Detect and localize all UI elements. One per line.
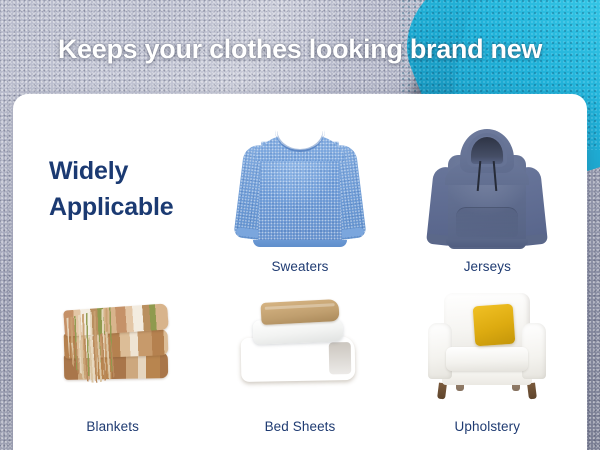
hoodie-icon bbox=[412, 119, 562, 251]
armchair-icon bbox=[412, 279, 562, 411]
content-card: Widely Applicable Sweaters bbox=[13, 94, 587, 450]
category-caption: Sweaters bbox=[271, 259, 328, 274]
category-item-sweaters[interactable]: Sweaters bbox=[206, 100, 393, 278]
folded-bedding-icon bbox=[225, 279, 375, 411]
product-feature-banner: Keeps your clothes looking brand new Wid… bbox=[0, 0, 600, 450]
sweater-icon bbox=[225, 119, 375, 251]
plaid-blanket-icon bbox=[38, 279, 188, 411]
banner-headline: Keeps your clothes looking brand new bbox=[0, 34, 600, 65]
category-item-bed-sheets[interactable]: Bed Sheets bbox=[206, 278, 393, 438]
category-caption: Upholstery bbox=[455, 419, 521, 434]
category-item-blankets[interactable]: Blankets bbox=[19, 278, 206, 438]
category-item-jerseys[interactable]: Jerseys bbox=[394, 100, 581, 278]
category-caption: Blankets bbox=[86, 419, 139, 434]
category-caption: Jerseys bbox=[464, 259, 511, 274]
section-title-cell: Widely Applicable bbox=[19, 100, 206, 278]
section-title-line-1: Widely bbox=[49, 153, 173, 189]
category-caption: Bed Sheets bbox=[265, 419, 336, 434]
section-title-line-2: Applicable bbox=[49, 189, 173, 225]
section-title: Widely Applicable bbox=[49, 153, 173, 226]
category-grid: Widely Applicable Sweaters bbox=[13, 94, 587, 450]
category-item-upholstery[interactable]: Upholstery bbox=[394, 278, 581, 438]
